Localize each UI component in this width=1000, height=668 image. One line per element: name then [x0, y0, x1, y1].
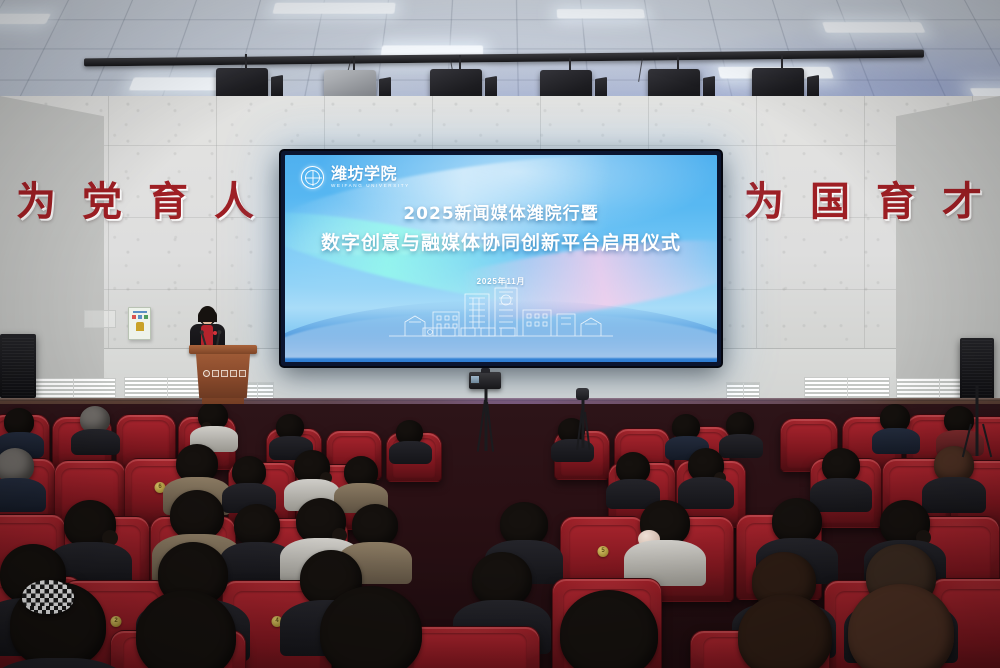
shoulders: [0, 478, 46, 512]
light-stand-right: [966, 386, 988, 458]
tripod-leg: [584, 412, 591, 450]
notice-pictogram: [136, 322, 144, 331]
head: [560, 590, 658, 668]
seat-number-medallion: 2: [111, 616, 122, 627]
shoulders: [872, 428, 920, 454]
light-yoke: [569, 56, 571, 70]
wall-slogan-right: 为 国 育 才: [744, 182, 982, 222]
shoulders: [719, 434, 763, 458]
camera-tripod-main: [464, 372, 508, 452]
screen-title-block: 2025新闻媒体潍院行暨 数字创意与融媒体协同创新平台启用仪式: [285, 199, 717, 255]
head: [170, 490, 224, 540]
light-yoke: [781, 54, 783, 68]
podium-char-1: [212, 370, 219, 377]
checkered-cap: [22, 580, 74, 614]
camera-viewfinder: [481, 368, 490, 373]
screen-title-line2: 数字创意与融媒体协同创新平台启用仪式: [285, 228, 717, 255]
ceiling-panel-light: [557, 9, 645, 18]
head: [320, 586, 422, 668]
shoulders: [922, 477, 986, 513]
slogan-char: 育: [876, 182, 916, 222]
shoulders: [810, 478, 872, 512]
podium-char-2: [221, 370, 228, 377]
slogan-char: 为: [16, 182, 56, 222]
head: [234, 504, 280, 546]
logo-name-cn: 潍坊学院: [331, 166, 410, 182]
podium-university-mark: [203, 369, 249, 377]
head: [738, 594, 832, 668]
head: [472, 552, 532, 607]
wall-slogan-left: 为 党 育 人: [16, 182, 254, 222]
podium-char-4: [239, 370, 246, 377]
notice-icon-row: [132, 315, 148, 319]
tripod-column: [582, 400, 585, 448]
podium-front-panel: [196, 354, 250, 398]
led-screen: 潍坊学院 WEIFANG UNIVERSITY 2025新闻媒体潍院行暨 数字创…: [281, 151, 721, 366]
notice-icon-red: [132, 315, 136, 319]
tripod-column: [485, 389, 488, 451]
podium-top: [189, 345, 257, 354]
logo-name-en: WEIFANG UNIVERSITY: [331, 184, 410, 189]
notice-icon-green: [144, 315, 148, 319]
light-yoke: [353, 56, 355, 70]
podium-char-3: [230, 370, 237, 377]
ceiling-panel-light: [0, 14, 51, 24]
slogan-char: 育: [148, 182, 188, 222]
shoulders: [389, 441, 432, 464]
shoulders: [678, 477, 734, 509]
university-emblem-icon: [301, 166, 324, 189]
led-screen-content: 潍坊学院 WEIFANG UNIVERSITY 2025新闻媒体潍院行暨 数字创…: [285, 155, 717, 362]
shoulders: [71, 429, 120, 455]
slogan-char: 才: [942, 182, 982, 222]
slogan-char: 人: [214, 182, 254, 222]
presenter-fringe: [198, 309, 217, 322]
camera-mount-head: [576, 388, 589, 400]
slogan-char: 国: [810, 182, 850, 222]
logo-wordmark: 潍坊学院 WEIFANG UNIVERSITY: [331, 166, 410, 189]
light-yoke: [677, 55, 679, 69]
pa-speaker-left: [0, 334, 36, 398]
speaker-grill: [2, 336, 34, 396]
wall-frame: [84, 310, 116, 328]
head: [352, 504, 398, 546]
notice-icon-blue: [138, 315, 142, 319]
notice-title-bar: [133, 311, 147, 313]
ceiling-panel-light: [272, 3, 395, 14]
light-yoke: [245, 54, 247, 68]
slogan-char: 党: [82, 182, 122, 222]
light-yoke: [459, 55, 461, 69]
screen-university-logo: 潍坊学院 WEIFANG UNIVERSITY: [301, 166, 410, 189]
campus-skyline-graphic: [385, 278, 617, 340]
seat-number-medallion: 5: [598, 546, 609, 557]
camera-lcd-screen: [470, 375, 480, 384]
slogan-char: 为: [744, 182, 784, 222]
video-camera: [469, 372, 501, 389]
stand-column: [976, 386, 979, 456]
ceiling-panel-light: [822, 22, 925, 33]
camera-tripod-secondary: [568, 388, 598, 450]
safety-notice-sign: [128, 307, 151, 340]
auditorium-ceremony-photo: 为 党 育 人 为 国 育 才: [0, 0, 1000, 668]
podium-emblem-icon: [203, 370, 210, 377]
screen-title-line1: 2025新闻媒体潍院行暨: [285, 199, 717, 224]
